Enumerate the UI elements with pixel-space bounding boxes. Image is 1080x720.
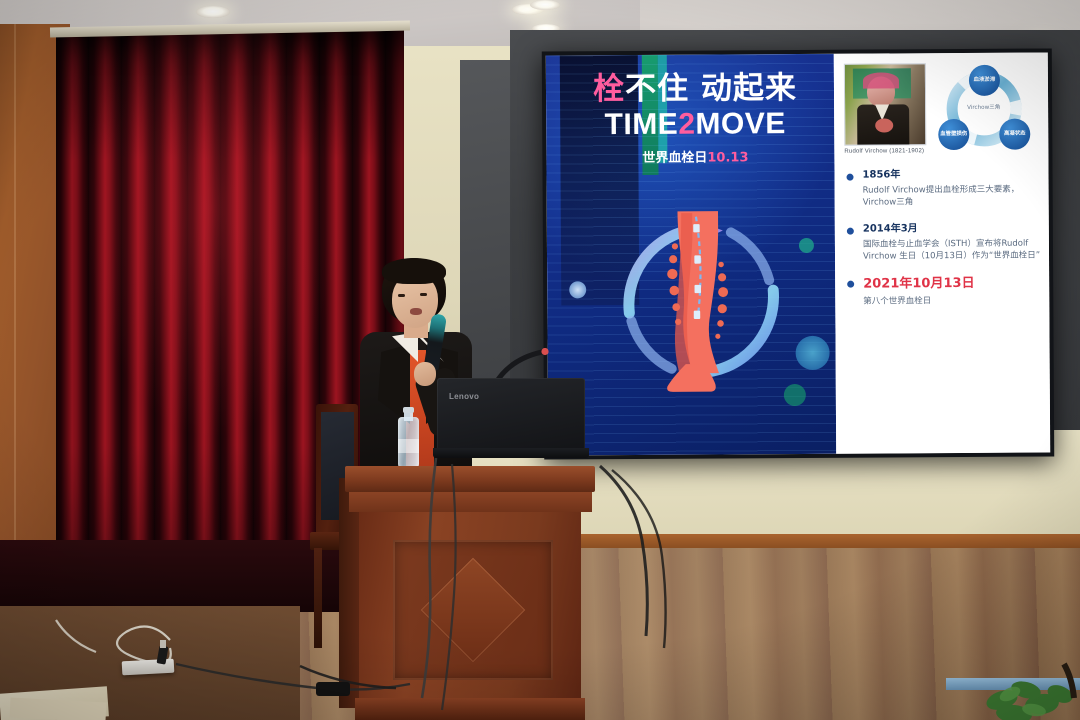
slide-title-block: 栓不住 动起来 TIME2MOVE 世界血栓日10.13: [566, 72, 825, 166]
ceiling-downlight: [530, 0, 560, 10]
title-plain-2: 动起来: [701, 70, 797, 107]
hero-dot: [569, 281, 586, 298]
potted-plant: [968, 660, 1080, 720]
subtitle-text: 世界血栓日: [642, 150, 707, 165]
bullet-body: 国际血栓与止血学会（ISTH）宣布将Rudolf Virchow 生日（10月1…: [863, 237, 1041, 263]
title-plain-1: 不住: [625, 71, 689, 107]
bullet-dot-icon: [847, 174, 854, 181]
slide-content-panel: Rudolf Virchow (1821-1902): [834, 52, 1050, 453]
power-plug-tip: [160, 640, 166, 648]
speaker-mouth: [410, 308, 422, 315]
triad-node-blood-stasis: 血液淤滞: [969, 65, 1000, 96]
bullet-heading: 1856年: [862, 169, 1040, 182]
subtitle-date: 10.13: [707, 150, 748, 165]
title-en-move: MOVE: [695, 107, 786, 141]
slide-hero-panel: 栓不住 动起来 TIME2MOVE 世界血栓日10.13: [546, 54, 836, 456]
cable-group: [0, 440, 1080, 720]
projection-screen: 栓不住 动起来 TIME2MOVE 世界血栓日10.13: [542, 48, 1054, 459]
bullet-heading-highlight: 2021年10月13日: [863, 276, 1041, 293]
bullet-heading: 2014年3月: [863, 222, 1041, 235]
speaker-fringe: [382, 258, 446, 284]
list-item: 1856年 Rudolf Virchow提出血栓形成三大要素，Virchow三角: [846, 169, 1040, 210]
title-accent-char: 栓: [593, 71, 625, 107]
portrait-block: Rudolf Virchow (1821-1902): [844, 63, 927, 154]
virchow-portrait-image: [844, 63, 926, 145]
triad-node-hypercoagulable: 高凝状态: [999, 119, 1030, 150]
list-item: 2021年10月13日 第八个世界血栓日: [847, 276, 1041, 308]
triad-node-label: 血管壁损伤: [940, 131, 967, 137]
laptop-brand-label: Lenovo: [449, 392, 479, 401]
bullet-body: 第八个世界血栓日: [863, 294, 1041, 307]
triad-node-vessel-injury: 血管壁损伤: [938, 119, 969, 150]
power-strip: [122, 659, 175, 676]
triad-node-label: 高凝状态: [1004, 131, 1026, 137]
ceiling-downlight: [196, 6, 230, 18]
speaker-eye-right: [420, 293, 427, 296]
presentation-slide: 栓不住 动起来 TIME2MOVE 世界血栓日10.13: [546, 52, 1050, 455]
speaker-eye-left: [398, 294, 405, 297]
leg-vein-icon: [663, 204, 734, 394]
slide-title-chinese: 栓不住 动起来: [566, 72, 824, 106]
title-en-time: TIME: [604, 107, 678, 140]
power-adapter: [316, 682, 350, 696]
bottle-cap: [403, 407, 414, 413]
virchow-triad-diagram: Virchow三角 血液淤滞 血管壁损伤 高凝状态: [932, 63, 1037, 156]
portrait-caption: Rudolf Virchow (1821-1902): [844, 148, 926, 155]
speaker-hand: [414, 362, 436, 386]
list-item: 2014年3月 国际血栓与止血学会（ISTH）宣布将Rudolf Virchow…: [847, 222, 1041, 263]
hero-dot: [799, 238, 814, 253]
slide-title-english: TIME2MOVE: [566, 106, 824, 142]
bullet-body: Rudolf Virchow提出血栓形成三大要素，Virchow三角: [863, 184, 1041, 210]
portrait-hair: [863, 72, 899, 88]
portrait-hand: [875, 118, 893, 132]
leg-vein-illustration: [601, 194, 802, 405]
floor-paper-secondary: [10, 698, 107, 720]
timeline-bullet-list: 1856年 Rudolf Virchow提出血栓形成三大要素，Virchow三角…: [844, 169, 1041, 308]
slide-subtitle: 世界血栓日10.13: [566, 145, 824, 166]
bullet-dot-icon: [847, 281, 854, 288]
virchow-header: Rudolf Virchow (1821-1902): [844, 63, 1041, 156]
bullet-dot-icon: [847, 227, 854, 234]
title-en-two: 2: [678, 107, 695, 140]
triad-center-label: Virchow三角: [967, 103, 1000, 111]
lecture-photo-scene: 栓不住 动起来 TIME2MOVE 世界血栓日10.13: [0, 0, 1080, 720]
triad-node-label: 血液淤滞: [974, 77, 996, 83]
